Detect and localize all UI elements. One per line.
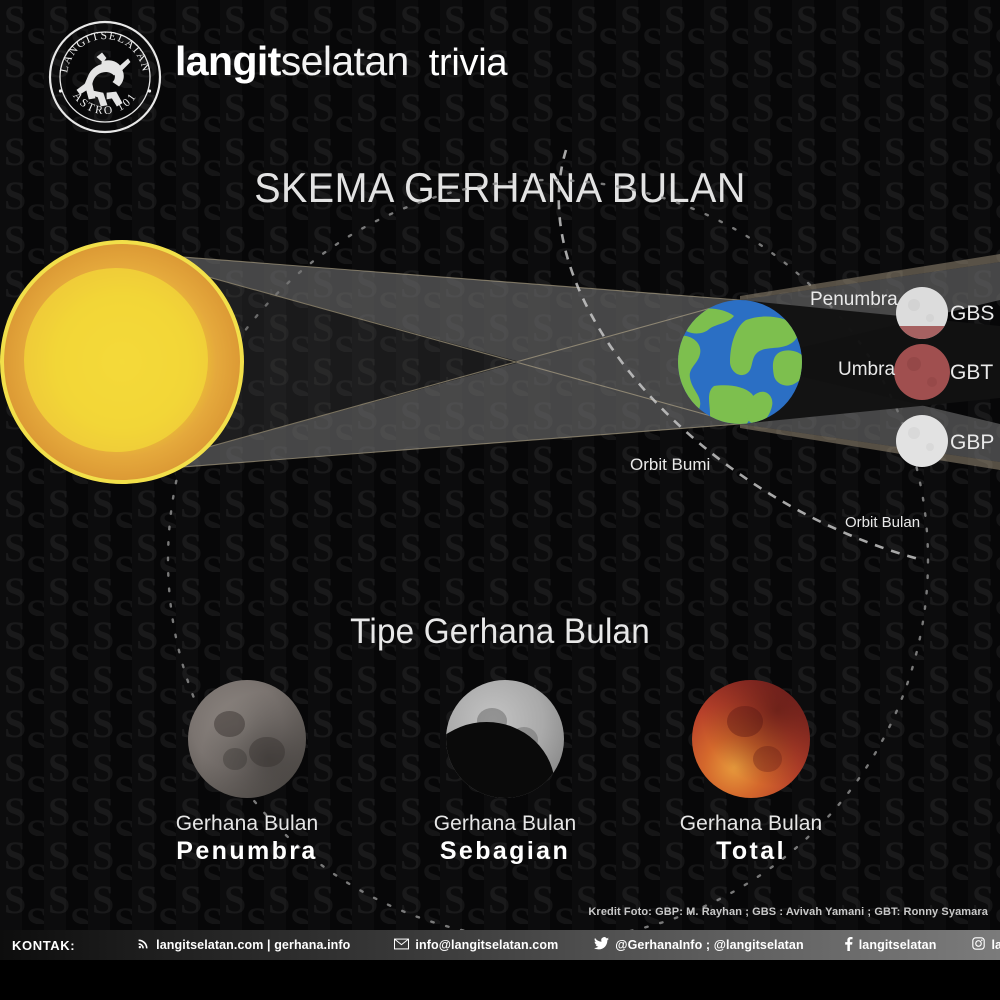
type-item-total: Gerhana Bulan Total [631, 680, 871, 866]
footer-facebook[interactable]: langitselatan [844, 937, 937, 954]
type-caption-top: Gerhana Bulan [631, 812, 871, 836]
footer-website[interactable]: langitselatan.com | gerhana.info [137, 937, 350, 953]
footer-bottom-spacer [0, 960, 1000, 1000]
footer-facebook-text: langitselatan [859, 938, 937, 952]
label-penumbra: Penumbra [810, 289, 898, 310]
footer-instagram[interactable]: langitselatanmedia [972, 937, 1000, 953]
moon-gbt [894, 344, 950, 400]
footer-twitter-text: @GerhanaInfo ; @langitselatan [615, 938, 803, 952]
total-blood-moon-image [692, 680, 810, 798]
type-caption-bottom: Sebagian [385, 837, 625, 866]
label-orbit-bulan: Orbit Bulan [845, 514, 920, 531]
type-item-sebagian: Gerhana Bulan Sebagian [385, 680, 625, 866]
instagram-icon [972, 937, 985, 953]
footer-email-text: info@langitselatan.com [415, 938, 558, 952]
label-umbra: Umbra [838, 359, 895, 380]
footer-instagram-text: langitselatanmedia [991, 938, 1000, 952]
footer-contact-bar: KONTAK: langitselatan.com | gerhana.info… [0, 930, 1000, 960]
moon-gbp [896, 415, 948, 467]
footer-website-text: langitselatan.com | gerhana.info [156, 938, 350, 952]
type-item-penumbra: Gerhana Bulan Penumbra [127, 680, 367, 866]
envelope-icon [394, 938, 409, 953]
photo-credit: Kredit Foto: GBP: M. Rayhan ; GBS : Aviv… [0, 906, 988, 918]
label-gbp: GBP [950, 431, 994, 454]
label-gbs: GBS [950, 302, 994, 325]
facebook-icon [844, 937, 853, 954]
sun [0, 240, 244, 484]
label-orbit-bumi: Orbit Bumi [630, 455, 710, 474]
type-caption-top: Gerhana Bulan [127, 812, 367, 836]
footer-label: KONTAK: [12, 938, 75, 953]
rss-icon [137, 937, 150, 953]
infographic-page: S S LANGITSELATAN ASTRO 101 [0, 0, 1000, 1000]
type-caption-bottom: Total [631, 837, 871, 866]
type-caption-bottom: Penumbra [127, 837, 367, 866]
twitter-icon [594, 937, 609, 953]
label-gbt: GBT [950, 361, 993, 384]
footer-email[interactable]: info@langitselatan.com [394, 938, 558, 953]
footer-twitter[interactable]: @GerhanaInfo ; @langitselatan [594, 937, 803, 953]
type-caption-top: Gerhana Bulan [385, 812, 625, 836]
penumbral-moon-image [188, 680, 306, 798]
types-section-title: Tipe Gerhana Bulan [25, 612, 975, 652]
partial-moon-image [446, 680, 564, 798]
